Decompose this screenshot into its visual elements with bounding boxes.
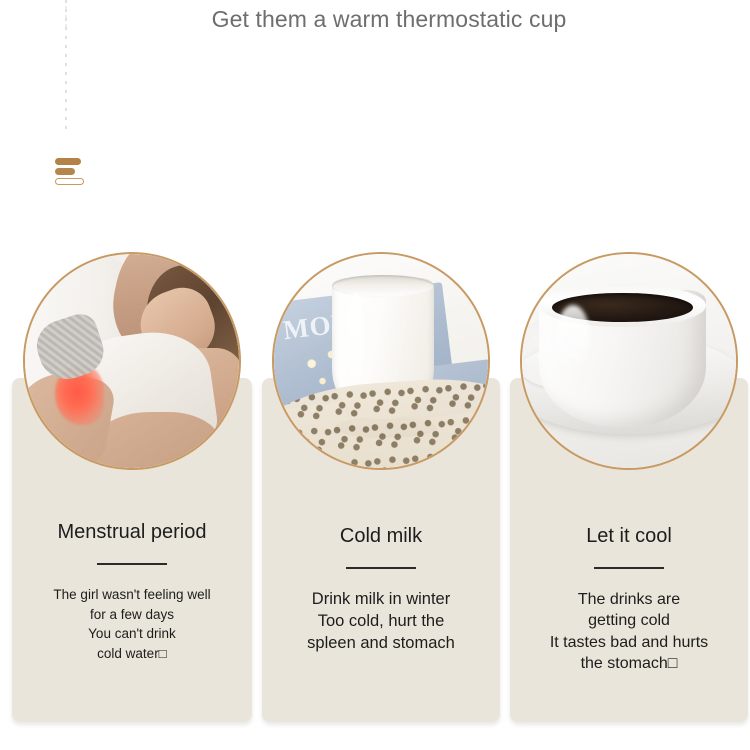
card-body-let-it-cool: Let it cool The drinks are getting cold … (510, 524, 748, 674)
card-body-menstrual-period: Menstrual period The girl wasn't feeling… (12, 520, 252, 663)
card-divider (97, 563, 167, 565)
photo-coffee-cup (522, 254, 736, 468)
card-divider (346, 567, 416, 569)
card-cold-milk[interactable]: MORE Cold milk Drink milk in winter Too … (262, 378, 500, 722)
card-image-let-it-cool (520, 252, 738, 470)
card-row: Menstrual period The girl wasn't feeling… (0, 0, 750, 750)
card-heading: Let it cool (518, 524, 740, 548)
card-description: The girl wasn't feeling well for a few d… (20, 585, 244, 663)
photo-glass-of-milk: MORE (274, 254, 488, 468)
card-body-cold-milk: Cold milk Drink milk in winter Too cold,… (262, 524, 500, 655)
card-description: The drinks are getting cold It tastes ba… (518, 589, 740, 674)
card-let-it-cool[interactable]: Let it cool The drinks are getting cold … (510, 378, 748, 722)
card-image-cold-milk: MORE (272, 252, 490, 470)
card-divider (594, 567, 664, 569)
card-heading: Cold milk (270, 524, 492, 548)
card-description: Drink milk in winter Too cold, hurt the … (270, 589, 492, 655)
photo-woman-in-bed (25, 254, 239, 468)
card-menstrual-period[interactable]: Menstrual period The girl wasn't feeling… (12, 378, 252, 722)
card-heading: Menstrual period (20, 520, 244, 544)
card-image-menstrual-period (23, 252, 241, 470)
